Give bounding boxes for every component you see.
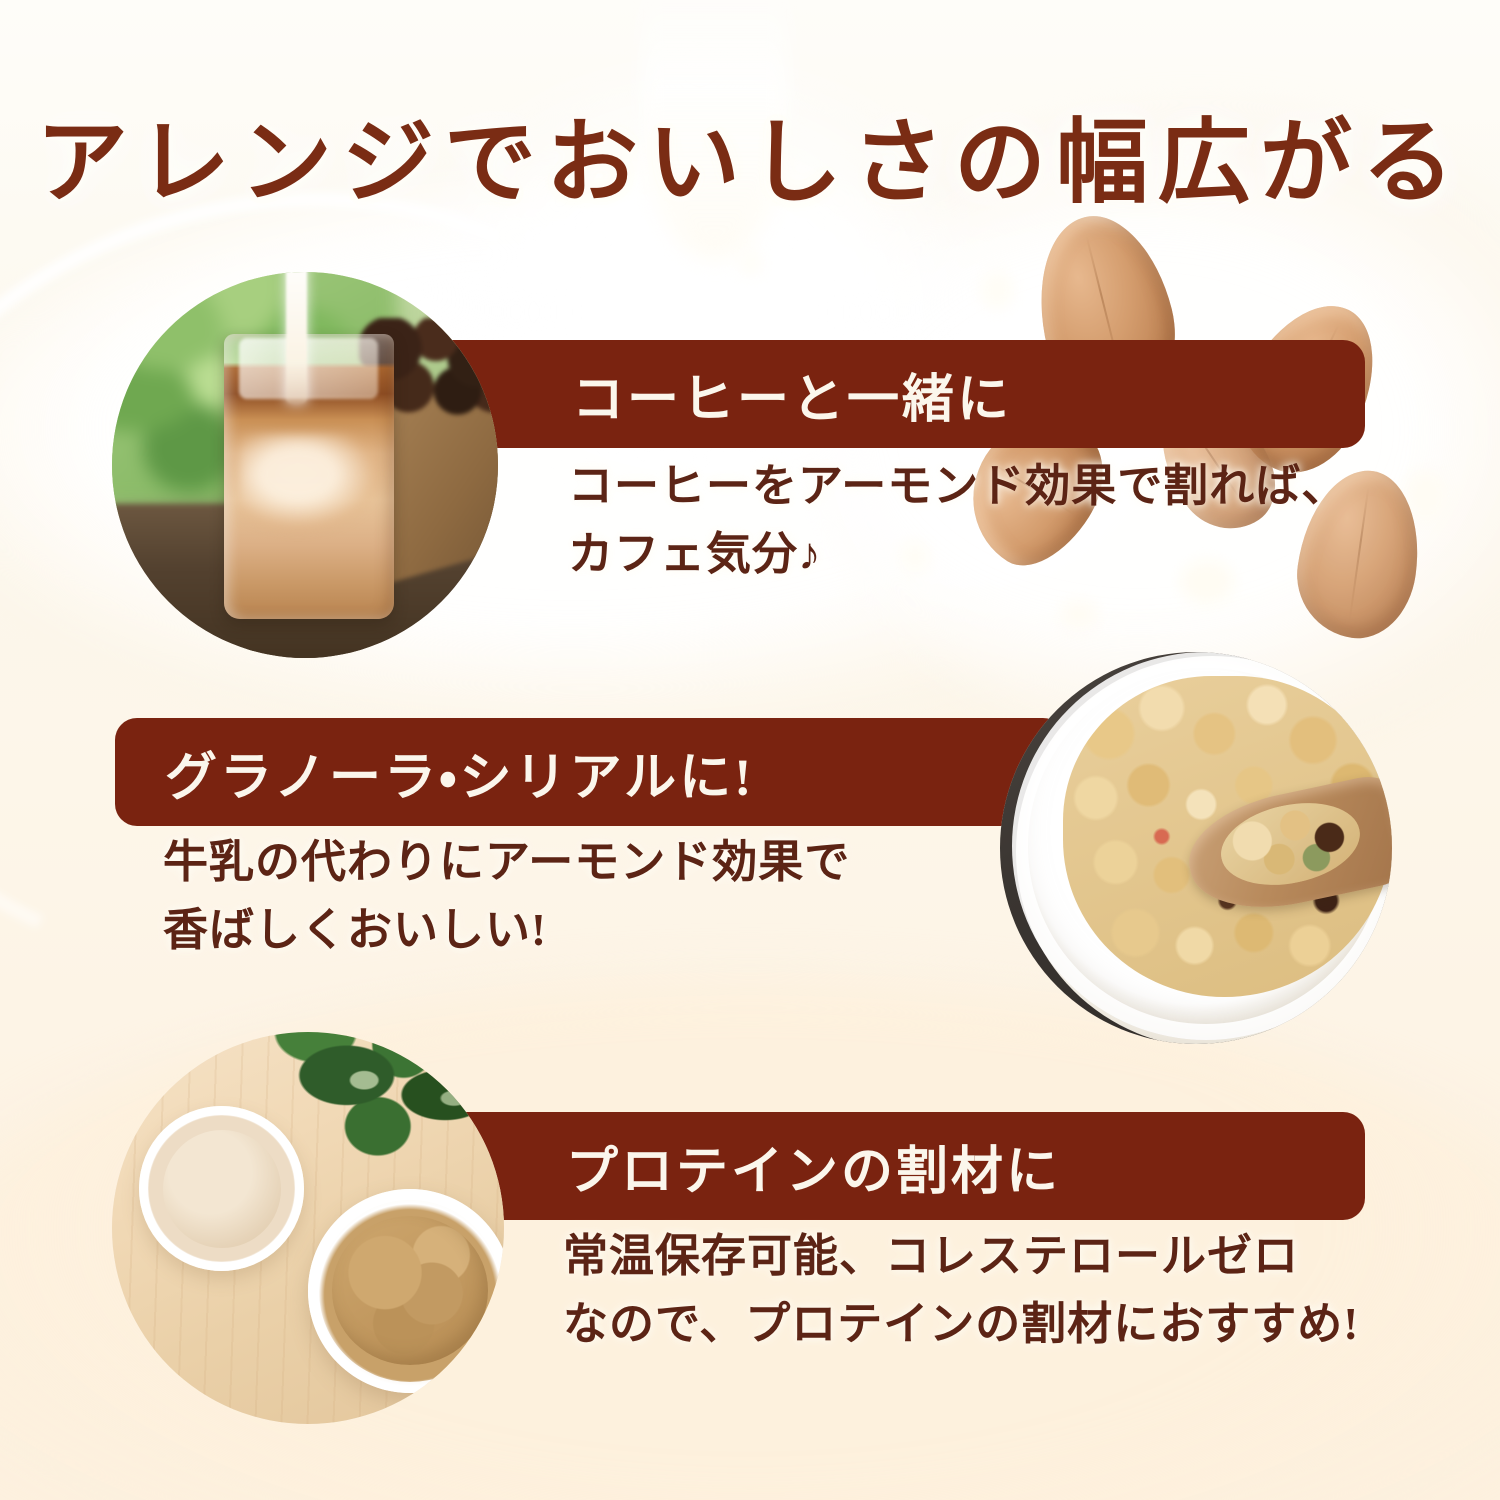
section-coffee-banner: コーヒーと一緒に — [430, 340, 1365, 448]
protein-powder — [332, 1216, 489, 1365]
section-granola-photo — [1000, 652, 1392, 1044]
section-protein-banner-label: プロテインの割材に — [566, 1129, 1061, 1204]
section-protein-banner: プロテインの割材に — [430, 1112, 1365, 1220]
section-granola-banner: グラノーラ・シリアルに! — [115, 718, 1065, 826]
page-title: アレンジでおいしさの幅広がる — [36, 88, 1464, 221]
milk-swirl — [239, 434, 386, 534]
section-granola-body: 牛乳の代わりにアーモンド効果で 香ばしくおいしい! — [163, 828, 1043, 965]
ice-cubes — [239, 338, 378, 400]
section-coffee-photo — [112, 272, 498, 658]
section-coffee-body: コーヒーをアーモンド効果で割れば、 カフェ気分♪ — [568, 452, 1408, 589]
pothos-leaf-highlights — [284, 1032, 504, 1181]
page-title-wrapper: アレンジでおいしさの幅広がる — [0, 88, 1500, 221]
milk-pour-stream — [286, 272, 307, 403]
promo-poster: アレンジでおいしさの幅広がる コーヒーと一緒に コーヒーをアーモンド効果で割れば… — [0, 0, 1500, 1500]
milk-droplet — [980, 270, 1014, 310]
section-protein-body: 常温保存可能、コレステロールゼロ なので、プロテインの割材におすすめ! — [563, 1222, 1453, 1359]
section-coffee-banner-label: コーヒーと一緒に — [572, 357, 1012, 432]
milk-droplet — [1060, 600, 1098, 630]
section-granola-banner-label: グラノーラ・シリアルに! — [165, 735, 754, 810]
protein-shake-foam — [163, 1130, 281, 1248]
section-protein-photo — [112, 1032, 504, 1424]
milk-droplet — [1404, 470, 1448, 522]
milk-droplet — [740, 250, 762, 276]
